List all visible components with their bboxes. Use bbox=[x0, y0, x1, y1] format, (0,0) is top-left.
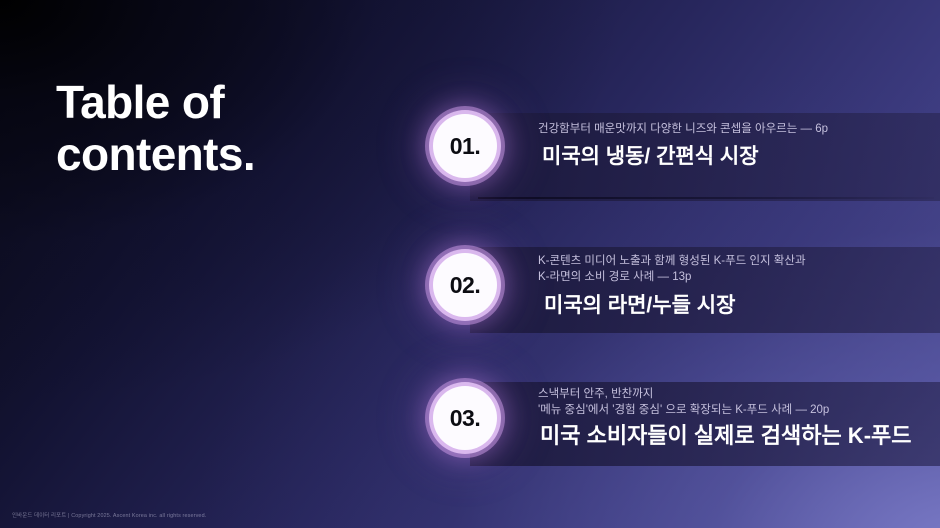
row-divider bbox=[478, 197, 934, 199]
number-badge[interactable]: 01. bbox=[433, 114, 497, 178]
footer-copyright: 인바운드 데이터 리포트 | Copyright 2025. Ascent Ko… bbox=[12, 511, 206, 519]
number-badge-label: 02. bbox=[450, 272, 480, 299]
row-heading: 미국의 냉동/ 간편식 시장 bbox=[538, 142, 936, 172]
row-texts: K-콘텐츠 미디어 노출과 함께 형성된 K-푸드 인지 확산과 K-라면의 소… bbox=[538, 253, 936, 321]
row-subtitle: 건강함부터 매운맛까지 다양한 니즈와 콘셉을 아우르는 — 6p bbox=[538, 121, 936, 137]
list-item[interactable]: 02. K-콘텐츠 미디어 노출과 함께 형성된 K-푸드 인지 확산과 K-라… bbox=[430, 243, 940, 343]
number-badge-label: 01. bbox=[450, 133, 480, 160]
number-badge[interactable]: 03. bbox=[433, 386, 497, 450]
contents-list: 01. 건강함부터 매운맛까지 다양한 니즈와 콘셉을 아우르는 — 6p 미국… bbox=[430, 0, 940, 528]
row-texts: 건강함부터 매운맛까지 다양한 니즈와 콘셉을 아우르는 — 6p 미국의 냉동… bbox=[538, 121, 936, 172]
number-badge-label: 03. bbox=[450, 405, 480, 432]
row-texts: 스낵부터 안주, 반찬까지 '메뉴 중심'에서 '경험 중심' 으로 확장되는 … bbox=[538, 386, 936, 451]
row-heading: 미국 소비자들이 실제로 검색하는 K-푸드 bbox=[538, 421, 936, 451]
row-subtitle: K-콘텐츠 미디어 노출과 함께 형성된 K-푸드 인지 확산과 K-라면의 소… bbox=[538, 253, 936, 285]
list-item[interactable]: 01. 건강함부터 매운맛까지 다양한 니즈와 콘셉을 아우르는 — 6p 미국… bbox=[430, 105, 940, 205]
row-heading: 미국의 라면/누들 시장 bbox=[538, 291, 936, 321]
page-title: Table of contents. bbox=[56, 76, 255, 180]
list-item[interactable]: 03. 스낵부터 안주, 반찬까지 '메뉴 중심'에서 '경험 중심' 으로 확… bbox=[430, 378, 940, 478]
number-badge[interactable]: 02. bbox=[433, 253, 497, 317]
row-subtitle: 스낵부터 안주, 반찬까지 '메뉴 중심'에서 '경험 중심' 으로 확장되는 … bbox=[538, 386, 936, 418]
slide-root: Table of contents. 01. 건강함부터 매운맛까지 다양한 니… bbox=[0, 0, 940, 528]
